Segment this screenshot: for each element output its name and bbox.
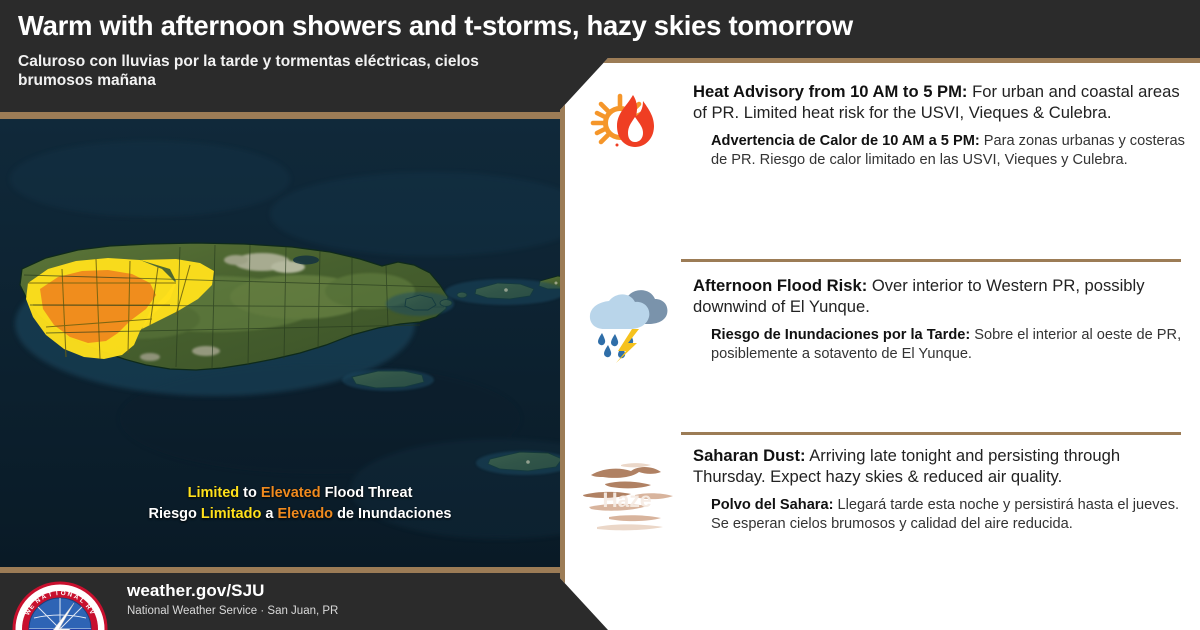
- haze-icon-label: Haze: [602, 489, 651, 512]
- footer-url[interactable]: weather.gov/SJU: [127, 581, 338, 601]
- legend-limited-es: Limitado: [201, 506, 261, 522]
- legend-suffix-es: de Inundaciones: [333, 506, 451, 522]
- panel-divider-1: [681, 259, 1181, 262]
- info-block-flood-risk: Afternoon Flood Risk: Over interior to W…: [565, 275, 1200, 364]
- footer: N A T I O N A L W E R V weather.gov/SJU …: [0, 567, 600, 630]
- heat-advisory-es-label: Advertencia de Calor de 10 AM a 5 PM:: [711, 133, 980, 149]
- legend-elevated-es: Elevado: [277, 506, 333, 522]
- svg-text:O: O: [60, 590, 66, 597]
- legend-elevated-en: Elevated: [261, 485, 321, 501]
- legend-suffix-en: Flood Threat: [321, 485, 413, 501]
- lightning-bolt: [616, 329, 639, 363]
- panel-divider-2: [681, 432, 1181, 435]
- saharan-dust-english: Saharan Dust: Arriving late tonight and …: [693, 445, 1185, 487]
- saharan-dust-es-label: Polvo del Sahara:: [711, 497, 833, 513]
- heat-advisory-text: Heat Advisory from 10 AM to 5 PM: For ur…: [693, 81, 1200, 170]
- saharan-dust-spanish: Polvo del Sahara: Llegará tarde esta noc…: [693, 496, 1185, 534]
- map-top-border: [0, 112, 600, 119]
- info-block-heat-advisory: Heat Advisory from 10 AM to 5 PM: For ur…: [565, 81, 1200, 173]
- legend-to-en: to: [239, 485, 261, 501]
- legend-limited-en: Limited: [188, 485, 240, 501]
- flood-risk-es-label: Riesgo de Inundaciones por la Tarde:: [711, 327, 970, 343]
- header: Warm with afternoon showers and t-storms…: [0, 0, 640, 115]
- haze-dust-icon-graphic: Haze: [575, 451, 683, 541]
- map-panel: Limited to Elevated Flood Threat Riesgo …: [0, 112, 600, 567]
- flood-risk-english: Afternoon Flood Risk: Over interior to W…: [693, 275, 1185, 317]
- heat-flame-sun-icon-graphic: [586, 87, 672, 173]
- weather-graphic: Warm with afternoon showers and t-storms…: [0, 0, 1200, 630]
- saharan-dust-en-label: Saharan Dust:: [693, 446, 806, 465]
- heat-advisory-en-label: Heat Advisory from 10 AM to 5 PM:: [693, 82, 967, 101]
- legend-line-spanish: Riesgo Limitado a Elevado de Inundacione…: [0, 504, 600, 525]
- haze-dust-icon: Haze: [565, 445, 693, 541]
- flood-threat-map[interactable]: Limited to Elevated Flood Threat Riesgo …: [0, 119, 600, 567]
- map-legend: Limited to Elevated Flood Threat Riesgo …: [0, 483, 600, 525]
- legend-line-english: Limited to Elevated Flood Threat: [0, 483, 600, 504]
- nws-logo-graphic: N A T I O N A L W E R V: [12, 581, 108, 630]
- heat-advisory-english: Heat Advisory from 10 AM to 5 PM: For ur…: [693, 81, 1185, 123]
- thunderstorm-rain-cloud-icon: [565, 275, 693, 363]
- page-subtitle-spanish: Caluroso con lluvias por la tarde y torm…: [18, 52, 548, 91]
- heat-flame-sun-icon: [565, 81, 693, 173]
- flood-risk-en-label: Afternoon Flood Risk:: [693, 276, 867, 295]
- flood-risk-spanish: Riesgo de Inundaciones por la Tarde: Sob…: [693, 326, 1185, 364]
- legend-prefix-es: Riesgo: [149, 506, 201, 522]
- legend-a-es: a: [261, 506, 277, 522]
- info-panel: Heat Advisory from 10 AM to 5 PM: For ur…: [560, 58, 1200, 630]
- footer-office: National Weather Service · San Juan, PR: [127, 605, 338, 617]
- saharan-dust-text: Saharan Dust: Arriving late tonight and …: [693, 445, 1200, 534]
- footer-text: weather.gov/SJU National Weather Service…: [127, 581, 338, 617]
- flood-risk-text: Afternoon Flood Risk: Over interior to W…: [693, 275, 1200, 364]
- page-title: Warm with afternoon showers and t-storms…: [18, 10, 640, 42]
- info-block-saharan-dust: Haze Saharan Dust: Arriving late tonight…: [565, 445, 1200, 541]
- footer-top-border: [0, 567, 600, 573]
- heat-advisory-spanish: Advertencia de Calor de 10 AM a 5 PM: Pa…: [693, 132, 1185, 170]
- nws-logo: N A T I O N A L W E R V: [12, 581, 108, 630]
- thunderstorm-icon-graphic: [585, 281, 673, 363]
